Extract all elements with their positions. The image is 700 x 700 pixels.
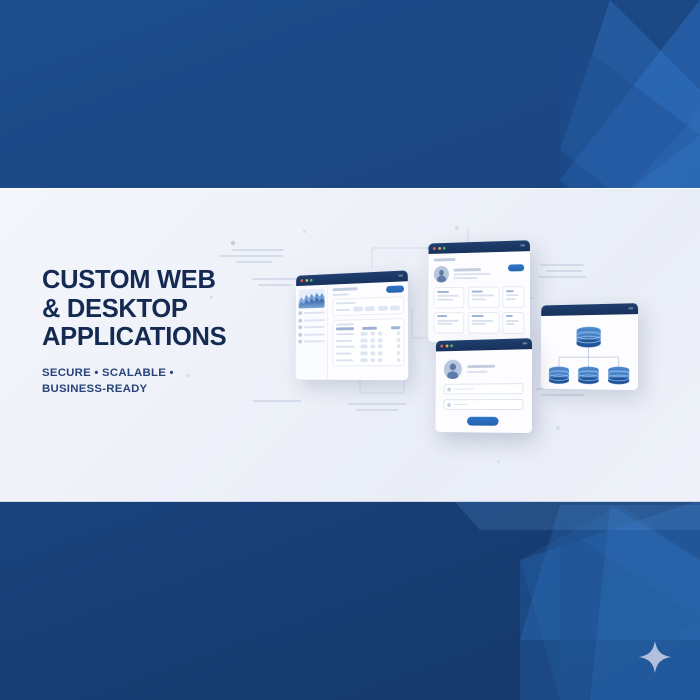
database-node-3 [608,367,629,385]
table-column-header[interactable] [391,326,400,329]
cell-badge [370,332,375,336]
table-column-header[interactable] [336,327,354,330]
database-node-2 [578,367,599,385]
nav-bullet-icon [298,340,301,344]
cell-name [336,352,351,354]
cell-badge [378,345,383,349]
info-card[interactable] [503,312,525,334]
sidebar-item-5[interactable] [298,339,324,343]
nav-bullet-icon [298,326,301,330]
cell-badge [378,358,383,362]
page-title: CUSTOM WEB & DESKTOP APPLICATIONS [42,266,292,352]
filters-label [336,302,356,305]
card-line [506,320,518,322]
close-dot-icon[interactable] [433,247,436,250]
dashboard-subtitle [333,293,349,296]
card-line [437,323,452,325]
cell-name [336,340,352,342]
table-row[interactable] [336,344,400,349]
window-body [428,251,530,343]
profile-detail-line [453,277,477,279]
card-title [437,315,447,317]
cell-name [336,346,355,348]
dashboard-title [333,287,358,291]
maximize-dot-icon[interactable] [310,279,313,282]
info-card[interactable] [503,286,525,308]
band-bottom-edge [0,501,700,502]
table-row[interactable] [336,351,401,355]
titlebar-menu-icon[interactable] [520,244,525,246]
filters-panel [333,296,405,316]
username-placeholder [454,388,474,390]
card-line [471,298,486,300]
card-line [506,323,515,325]
subheadline: SECURE • SCALABLE • BUSINESS-READY [42,365,292,398]
minimize-dot-icon[interactable] [438,247,441,250]
dashboard-sidebar[interactable] [296,285,329,380]
card-line [506,298,516,300]
subheadline-line-1: SECURE • SCALABLE • [42,365,292,382]
banner-stage: CUSTOM WEB & DESKTOP APPLICATIONS SECURE… [0,0,700,700]
headline-line-3: APPLICATIONS [42,323,292,352]
cell-badge [378,332,383,336]
cell-badge [370,351,375,355]
cell-action[interactable] [397,331,401,335]
password-placeholder [454,404,468,406]
analytics-dashboard-window[interactable] [296,270,409,380]
card-line [437,320,459,322]
password-field[interactable] [444,399,524,410]
sidebar-item-label [304,312,325,315]
card-line [437,295,459,297]
cell-action[interactable] [397,344,401,348]
cell-badge [370,338,375,342]
admin-profile-window[interactable] [428,240,530,343]
cell-action[interactable] [397,358,401,362]
info-card[interactable] [468,286,500,308]
cell-name [336,333,354,335]
headline-line-2: & DESKTOP [42,295,292,324]
info-card[interactable] [434,312,465,333]
lock-icon [447,403,451,407]
filter-chip-1[interactable] [353,307,363,312]
close-dot-icon[interactable] [440,345,443,348]
profile-name [453,268,480,271]
sidebar-item-2[interactable] [299,318,325,322]
card-title [471,290,482,292]
table-column-header[interactable] [362,327,377,330]
card-line [471,295,493,297]
window-titlebar[interactable] [541,303,638,316]
login-submit-button[interactable] [467,417,499,426]
minimize-dot-icon[interactable] [445,344,448,347]
data-table-panel [332,318,404,366]
four-point-star-icon [638,640,672,674]
database-node-root [576,327,600,348]
dashboard-header [333,285,404,295]
login-form-window[interactable] [435,338,532,433]
cell-action[interactable] [397,351,401,355]
cell-action[interactable] [397,338,401,342]
database-topology-window[interactable] [541,303,638,390]
sidebar-item-label [304,326,325,328]
avatar[interactable] [434,266,449,283]
login-subtitle [467,370,487,372]
titlebar-menu-icon[interactable] [628,307,633,309]
info-cards-grid [434,286,525,333]
dashboard-main [328,281,408,380]
window-body [541,314,638,390]
filter-chip-2[interactable] [365,306,375,311]
database-topology-diagram [544,318,634,390]
card-title [471,315,483,317]
card-title [506,315,513,317]
username-field[interactable] [444,383,524,394]
cell-badge [378,338,383,342]
filter-chip-4[interactable] [390,305,400,310]
sidebar-item-label [304,333,325,335]
info-card[interactable] [434,287,465,308]
profile-detail-line [453,273,490,276]
cell-badge [378,351,383,355]
user-icon [447,387,451,391]
card-title [437,290,449,292]
cell-name [336,359,353,361]
filter-chip-3[interactable] [377,306,387,311]
cell-badge [370,345,375,349]
close-dot-icon[interactable] [300,279,303,282]
cell-badge [360,332,367,336]
window-body [296,281,409,380]
maximize-dot-icon[interactable] [450,344,453,347]
maximize-dot-icon[interactable] [443,247,446,250]
table-row[interactable] [336,331,400,336]
cell-badge [370,358,375,362]
nav-bullet-icon [299,312,302,316]
primary-action-button[interactable] [386,285,404,293]
dashboard-title-block [333,287,358,295]
sidebar-item-4[interactable] [298,332,324,336]
card-line [506,294,518,296]
card-line [437,298,453,300]
profile-header [434,264,524,282]
headline-block: CUSTOM WEB & DESKTOP APPLICATIONS SECURE… [42,266,292,398]
sidebar-item-label [304,340,325,342]
cell-badge [360,338,367,342]
nav-bullet-icon [299,319,302,323]
avatar [444,360,462,380]
card-line [471,323,485,325]
login-header [444,358,524,379]
table-row[interactable] [336,358,401,362]
headline-line-1: CUSTOM WEB [42,266,292,295]
filter-caption [336,308,350,310]
card-title [506,290,514,292]
cell-badge [360,345,367,349]
login-title [467,365,495,368]
band-top-edge [0,188,700,189]
titlebar-menu-icon[interactable] [398,275,403,277]
table-caption [336,323,354,325]
card-line [471,320,492,322]
sidebar-item-1[interactable] [299,311,325,316]
info-card[interactable] [468,312,500,334]
table-header-row [336,326,400,330]
sidebar-item-3[interactable] [298,325,324,329]
save-button[interactable] [508,264,524,271]
area-chart-thumbnail [299,289,325,309]
cell-badge [360,351,367,355]
admin-breadcrumb [434,258,455,261]
titlebar-menu-icon[interactable] [522,342,527,344]
nav-bullet-icon [298,333,301,337]
database-node-1 [549,367,569,384]
sidebar-item-label [304,319,325,321]
cell-badge [360,358,367,362]
minimize-dot-icon[interactable] [305,279,308,282]
subheadline-line-2: BUSINESS-READY [42,381,292,398]
window-body [435,349,532,433]
table-row[interactable] [336,338,400,343]
